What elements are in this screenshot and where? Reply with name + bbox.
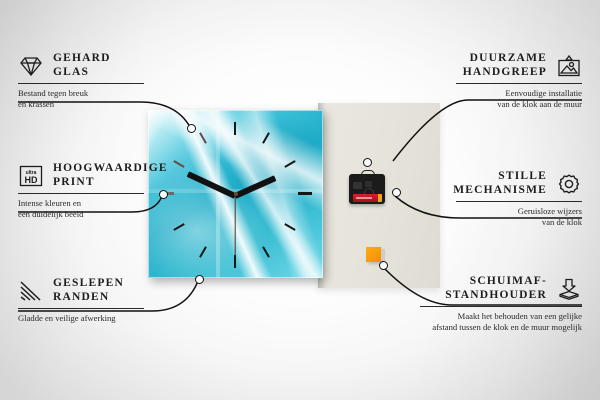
feature-rule (456, 201, 582, 202)
feature-geslepen-randen[interactable]: GESLEPEN RANDEN Gladde en veilige afwerk… (18, 277, 144, 324)
picture-hanger-icon (556, 55, 582, 77)
ultra-hd-icon: ultra HD (18, 165, 44, 187)
feature-title: SCHUIMAF- STANDHOUDER (445, 275, 547, 302)
feature-rule (420, 306, 582, 307)
mechanism-button-right (365, 181, 372, 187)
product-infographic: GEHARD GLAS Bestand tegen breuk en krass… (0, 0, 600, 400)
feature-desc: Eenvoudige installatie van de klok aan d… (456, 88, 582, 109)
feature-desc: Geruisloze wijzers van de klok (456, 206, 582, 227)
feature-title: DUURZAME HANDGREEP (463, 52, 547, 79)
feature-title: GEHARD GLAS (53, 52, 111, 79)
feature-duurzame-handgreep[interactable]: DUURZAME HANDGREEP Eenvoudige installati… (456, 52, 582, 109)
hotspot-dot-edges (195, 275, 204, 284)
beveled-edges-icon (18, 280, 44, 302)
svg-text:HD: HD (25, 175, 38, 185)
feature-schuimafstandhouder[interactable]: SCHUIMAF- STANDHOUDER Maakt het behouden… (420, 275, 582, 332)
hotspot-dot-glass (187, 124, 196, 133)
foam-spacer-image (366, 247, 381, 262)
mechanism-button-left (353, 182, 362, 189)
feature-desc: Intense kleuren en een duidelijk beeld (18, 198, 144, 219)
hotspot-dot-print (159, 190, 168, 199)
feature-desc: Maakt het behouden van een gelijke afsta… (420, 311, 582, 332)
hotspot-dot-spacer (379, 261, 388, 270)
hotspot-dot-hanger (363, 158, 372, 167)
feature-rule (18, 308, 144, 309)
feature-desc: Bestand tegen breuk en krassen (18, 88, 144, 109)
feature-stille-mechanisme[interactable]: STILLE MECHANISME Geruisloze wijzers van… (456, 170, 582, 227)
feature-rule (18, 83, 144, 84)
battery-positive-tip (378, 194, 382, 202)
hotspot-dot-mechanism (392, 188, 401, 197)
diamond-icon (18, 55, 44, 77)
feature-title: GESLEPEN RANDEN (53, 277, 124, 304)
foam-spacer-icon (556, 278, 582, 300)
feature-rule (456, 83, 582, 84)
battery-label-stripe (356, 197, 372, 199)
feature-rule (18, 193, 144, 194)
clock-glass-edge (148, 110, 323, 278)
feature-gehard-glas[interactable]: GEHARD GLAS Bestand tegen breuk en krass… (18, 52, 144, 109)
clock-mechanism-image (349, 170, 385, 204)
feature-title: STILLE MECHANISME (453, 170, 547, 197)
feature-desc: Gladde en veilige afwerking (18, 313, 144, 324)
gear-icon (556, 173, 582, 195)
clock-product-image (148, 110, 323, 278)
feature-title: HOOGWAARDIGE PRINT (53, 162, 168, 189)
feature-hoogwaardige-print[interactable]: ultra HD HOOGWAARDIGE PRINT Intense kleu… (18, 162, 144, 219)
